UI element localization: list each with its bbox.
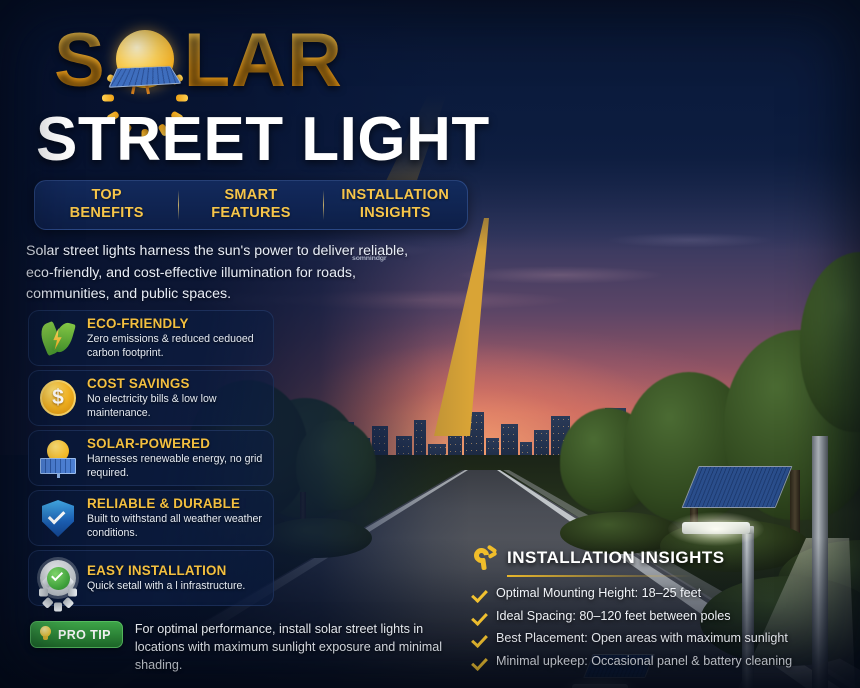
leaf-bolt-icon: [38, 318, 78, 358]
benefit-title: SOLAR-POWERED: [87, 436, 265, 451]
tab-top-benefits[interactable]: TOPBENEFITS: [35, 187, 178, 222]
insight-text: Best Placement: Open areas with maximum …: [496, 631, 788, 647]
pro-tip-badge[interactable]: PRO TIP: [30, 621, 123, 648]
check-icon: [471, 609, 488, 626]
benefit-description: Zero emissions & reduced ceduoed carbon …: [87, 333, 265, 359]
check-icon: [471, 586, 488, 603]
tab-bar: TOPBENEFITS SMARTFEATURES INSTALLATIONIN…: [34, 180, 468, 230]
lightbulb-icon: [39, 626, 52, 643]
benefit-description: Harnesses renewable energy, no grid requ…: [87, 453, 265, 479]
tab-smart-features[interactable]: SMARTFEATURES: [179, 187, 322, 222]
insights-title: INSTALLATION INSIGHTS: [507, 548, 725, 568]
sun-with-solar-panel-icon: [102, 18, 188, 104]
benefit-description: Built to withstand all weather weather c…: [87, 513, 265, 539]
benefits-card-list: ECO-FRIENDLY Zero emissions & reduced ce…: [28, 310, 274, 610]
solar-street-light-infographic: S LAR STREET LIGHT: [0, 0, 860, 688]
intro-paragraph: Solar street lights harness the sun's po…: [26, 241, 424, 306]
check-icon: [471, 631, 488, 648]
shield-check-icon: [38, 498, 78, 538]
pro-tip-text: For optimal performance, install solar s…: [135, 621, 450, 675]
insights-header: INSTALLATION INSIGHTS: [472, 545, 842, 571]
benefit-title: EASY INSTALLATION: [87, 563, 265, 578]
artifact-text: somnindgr: [352, 255, 386, 261]
dollar-coin-icon: $: [38, 378, 78, 418]
page-title-line1: S LAR: [54, 18, 343, 104]
benefit-title: RELIABLE & DURABLE: [87, 496, 265, 511]
check-icon: [471, 654, 488, 671]
benefit-card-cost-savings[interactable]: $ COST SAVINGS No electricity bills & lo…: [28, 370, 274, 426]
benefit-card-solar-powered[interactable]: SOLAR-POWERED Harnesses renewable energy…: [28, 430, 274, 486]
sun-panel-icon: [38, 438, 78, 478]
insights-underline: [507, 575, 692, 577]
benefit-card-reliable-durable[interactable]: RELIABLE & DURABLE Built to withstand al…: [28, 490, 274, 546]
pro-tip-block: PRO TIP For optimal performance, install…: [30, 621, 450, 675]
benefit-description: No electricity bills & low low maintenan…: [87, 393, 265, 419]
benefit-card-eco-friendly[interactable]: ECO-FRIENDLY Zero emissions & reduced ce…: [28, 310, 274, 366]
title-letter-s: S: [54, 23, 106, 99]
installation-insights-panel: INSTALLATION INSIGHTS Optimal Mounting H…: [472, 545, 842, 677]
wrench-icon: [472, 545, 498, 571]
pro-tip-label: PRO TIP: [58, 628, 111, 642]
benefit-card-easy-installation[interactable]: EASY INSTALLATION Quick setall with a l …: [28, 550, 274, 606]
insight-text: Ideal Spacing: 80–120 feet between poles: [496, 609, 731, 625]
benefit-title: ECO-FRIENDLY: [87, 316, 265, 331]
tab-installation-insights[interactable]: INSTALLATIONINSIGHTS: [324, 187, 467, 222]
insight-item: Minimal upkeep: Occasional panel & batte…: [472, 654, 842, 670]
insight-text: Optimal Mounting Height: 18–25 feet: [496, 586, 701, 602]
insight-text: Minimal upkeep: Occasional panel & batte…: [496, 654, 792, 670]
insight-item: Ideal Spacing: 80–120 feet between poles: [472, 609, 842, 625]
benefit-description: Quick setall with a l infrastructure.: [87, 580, 265, 593]
insight-item: Best Placement: Open areas with maximum …: [472, 631, 842, 647]
gear-check-icon: [38, 558, 78, 598]
title-letters-lar: LAR: [184, 23, 343, 99]
page-title-line2: STREET LIGHT: [36, 104, 490, 175]
insight-item: Optimal Mounting Height: 18–25 feet: [472, 586, 842, 602]
benefit-title: COST SAVINGS: [87, 376, 265, 391]
